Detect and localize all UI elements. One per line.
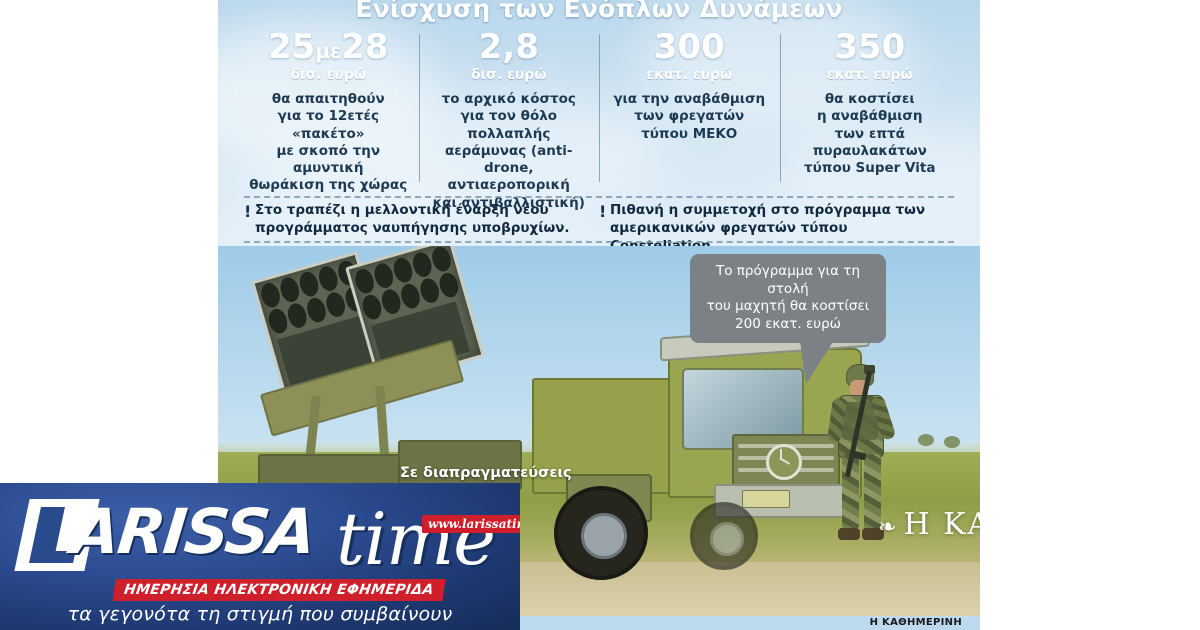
- notes-row: ! Στο τραπέζι η μελλοντική έναρξη νέουπρ…: [244, 202, 954, 240]
- stat-unit-4: εκατ. ευρώ: [786, 67, 955, 83]
- rocket-tube: [360, 293, 384, 322]
- logo-wordmark: ARISSA time www.larissatime.gr ΗΜΕΡΗΣΙΑ …: [14, 487, 514, 579]
- exclamation-icon: !: [599, 203, 603, 221]
- rocket-tube: [372, 261, 396, 290]
- stat-value-1-join: με: [315, 39, 341, 63]
- logo-text-time: time: [336, 497, 495, 581]
- truck-rim: [710, 522, 744, 556]
- rocket-tube: [398, 282, 422, 311]
- truck-wheel-rear: [554, 486, 648, 580]
- truck-license-plate: [742, 490, 790, 508]
- stat-column-3: 300 εκατ. ευρώ για την αναβάθμισητων φρε…: [599, 30, 780, 143]
- larissatime-logo-overlay[interactable]: ARISSA time www.larissatime.gr ΗΜΕΡΗΣΙΑ …: [0, 483, 520, 630]
- rocket-tube: [418, 276, 442, 305]
- kathimerini-watermark-text: Η ΚΑ: [903, 507, 980, 542]
- logo-url-badge[interactable]: www.larissatime.gr: [422, 515, 520, 533]
- infographic-title: Ενίσχυση των Ενόπλων Δυνάμεων: [218, 0, 980, 23]
- kathimerini-emblem-icon: ❧: [878, 515, 898, 540]
- rocket-tube: [379, 287, 403, 316]
- rocket-tube: [352, 267, 376, 296]
- stat-value-1-b: 28: [341, 27, 388, 67]
- stat-column-4: 350 εκατ. ευρώ θα κοστίσειη αναβάθμισητω…: [780, 30, 961, 177]
- rocket-tube: [324, 290, 348, 319]
- stat-column-1: 25με28 δισ. ευρώ θα απαιτηθούνγια το 12ε…: [238, 30, 419, 195]
- stat-desc-2: το αρχικό κόστοςγια τον θόλο πολλαπλήςαε…: [425, 91, 594, 212]
- stat-column-2: 2,8 δισ. ευρώ το αρχικό κόστοςγια τον θό…: [419, 30, 600, 212]
- rocket-tube: [258, 281, 282, 310]
- stat-value-1: 25με28: [244, 30, 413, 64]
- rocket-tube: [266, 307, 290, 336]
- logo-l-notch: [32, 507, 65, 551]
- rocket-tube: [437, 271, 461, 300]
- logo-text-larissa: ARISSA: [68, 495, 318, 568]
- note-2: ! Πιθανή η συμμετοχή στο πρόγραμμα τωναμ…: [599, 202, 954, 240]
- stat-unit-2: δισ. ευρώ: [425, 67, 594, 83]
- logo-tagline: τα γεγονότα τη στιγμή που συμβαίνουν: [0, 603, 520, 625]
- exclamation-icon: !: [244, 203, 248, 221]
- note-1-text: Στο τραπέζι η μελλοντική έναρξη νέουπρογ…: [255, 202, 570, 238]
- note-1: ! Στο τραπέζι η μελλοντική έναρξη νέουπρ…: [244, 202, 599, 240]
- stats-row: 25με28 δισ. ευρώ θα απαιτηθούνγια το 12ε…: [238, 30, 960, 188]
- stat-desc-3: για την αναβάθμισητων φρεγατώντύπου ΜΕΚΟ: [605, 91, 774, 143]
- rocket-tube: [391, 256, 415, 285]
- stat-desc-4: θα κοστίσειη αναβάθμισητων επτάπυραυλακά…: [786, 91, 955, 177]
- speech-bubble: Το πρόγραμμα για τη στολήτου μαχητή θα κ…: [690, 254, 886, 343]
- kathimerini-watermark: ❧Η ΚΑ: [878, 507, 980, 542]
- stat-unit-3: εκατ. ευρώ: [605, 67, 774, 83]
- truck-wheel-front: [690, 502, 758, 570]
- rocket-tube: [278, 275, 302, 304]
- dashed-divider-bottom: [244, 241, 954, 243]
- rocket-tube: [304, 296, 328, 325]
- rocket-tube: [410, 250, 434, 279]
- stat-desc-1: θα απαιτηθούνγια το 12ετές «πακέτο»με σκ…: [244, 91, 413, 195]
- photo-caption-negotiations: Σε διαπραγματεύσεις: [400, 465, 572, 481]
- logo-subtitle-badge: ΗΜΕΡΗΣΙΑ ΗΛΕΚΤΡΟΝΙΚΗ ΕΦΗΜΕΡΙΔΑ: [112, 579, 445, 601]
- mercedes-star-icon: [766, 444, 802, 480]
- truck-rim: [581, 513, 627, 559]
- stat-unit-1: δισ. ευρώ: [244, 67, 413, 83]
- rocket-tube: [285, 301, 309, 330]
- photo-tree: [918, 434, 934, 446]
- rocket-tube: [316, 264, 340, 293]
- stat-value-4: 350: [786, 30, 955, 64]
- stat-value-2: 2,8: [425, 30, 594, 64]
- dashed-divider-top: [244, 196, 954, 198]
- photo-tree: [944, 436, 960, 448]
- rocket-tube: [297, 270, 321, 299]
- soldier-boot-left: [838, 528, 860, 540]
- rocket-tube: [429, 246, 453, 274]
- stat-value-3: 300: [605, 30, 774, 64]
- stat-value-1-a: 25: [268, 27, 315, 67]
